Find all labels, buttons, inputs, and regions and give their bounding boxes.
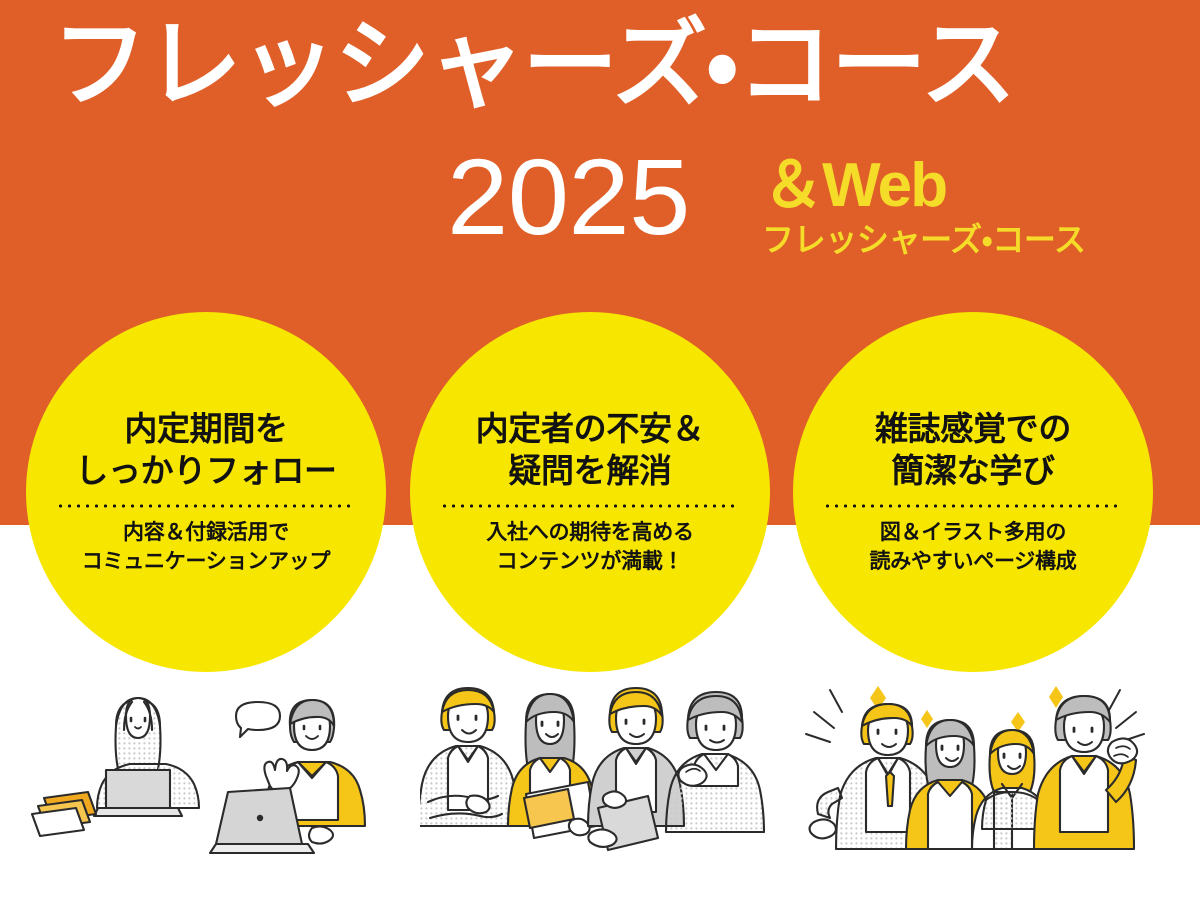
feature-circle-resolve[interactable]: 内定者の不安＆ 疑問を解消 入社への期待を高める コンテンツが満載！ — [410, 312, 770, 672]
feature-heading: 内定者の不安＆ 疑問を解消 — [476, 408, 705, 491]
feature-heading-line1: 内定期間を — [75, 408, 336, 450]
feature-heading-line1: 雑誌感覚での — [875, 408, 1071, 450]
feature-heading: 内定期間を しっかりフォロー — [75, 408, 336, 491]
feature-circles: 内定期間を しっかりフォロー 内容＆付録活用で コミュニケーションアップ 内定者… — [0, 0, 1200, 900]
feature-heading-line2: しっかりフォロー — [75, 450, 336, 492]
feature-circle-follow[interactable]: 内定期間を しっかりフォロー 内容＆付録活用で コミュニケーションアップ — [26, 312, 386, 672]
feature-subtext-line2: コンテンツが満載！ — [486, 548, 693, 576]
feature-subtext-line1: 内容＆付録活用で — [82, 519, 331, 547]
feature-subtext-line2: コミュニケーションアップ — [82, 548, 331, 576]
dotted-divider — [823, 504, 1123, 508]
feature-circle-magazine[interactable]: 雑誌感覚での 簡潔な学び 図＆イラスト多用の 読みやすいページ構成 — [793, 312, 1153, 672]
feature-subtext-line1: 入社への期待を高める — [486, 519, 693, 547]
feature-subtext-line2: 読みやすいページ構成 — [869, 548, 1076, 576]
feature-heading-line1: 内定者の不安＆ — [476, 408, 705, 450]
dotted-divider — [56, 504, 356, 508]
feature-subtext: 入社への期待を高める コンテンツが満載！ — [486, 519, 693, 575]
dotted-divider — [440, 504, 740, 508]
feature-subtext-line1: 図＆イラスト多用の — [869, 519, 1076, 547]
feature-heading: 雑誌感覚での 簡潔な学び — [875, 408, 1071, 491]
feature-heading-line2: 疑問を解消 — [476, 450, 705, 492]
feature-subtext: 図＆イラスト多用の 読みやすいページ構成 — [869, 519, 1076, 575]
promo-banner: フレッシャーズ・コース 2025 ＆Web フレッシャーズ・コース 内定期間を … — [0, 0, 1200, 900]
feature-subtext: 内容＆付録活用で コミュニケーションアップ — [82, 519, 331, 575]
feature-heading-line2: 簡潔な学び — [875, 450, 1071, 492]
